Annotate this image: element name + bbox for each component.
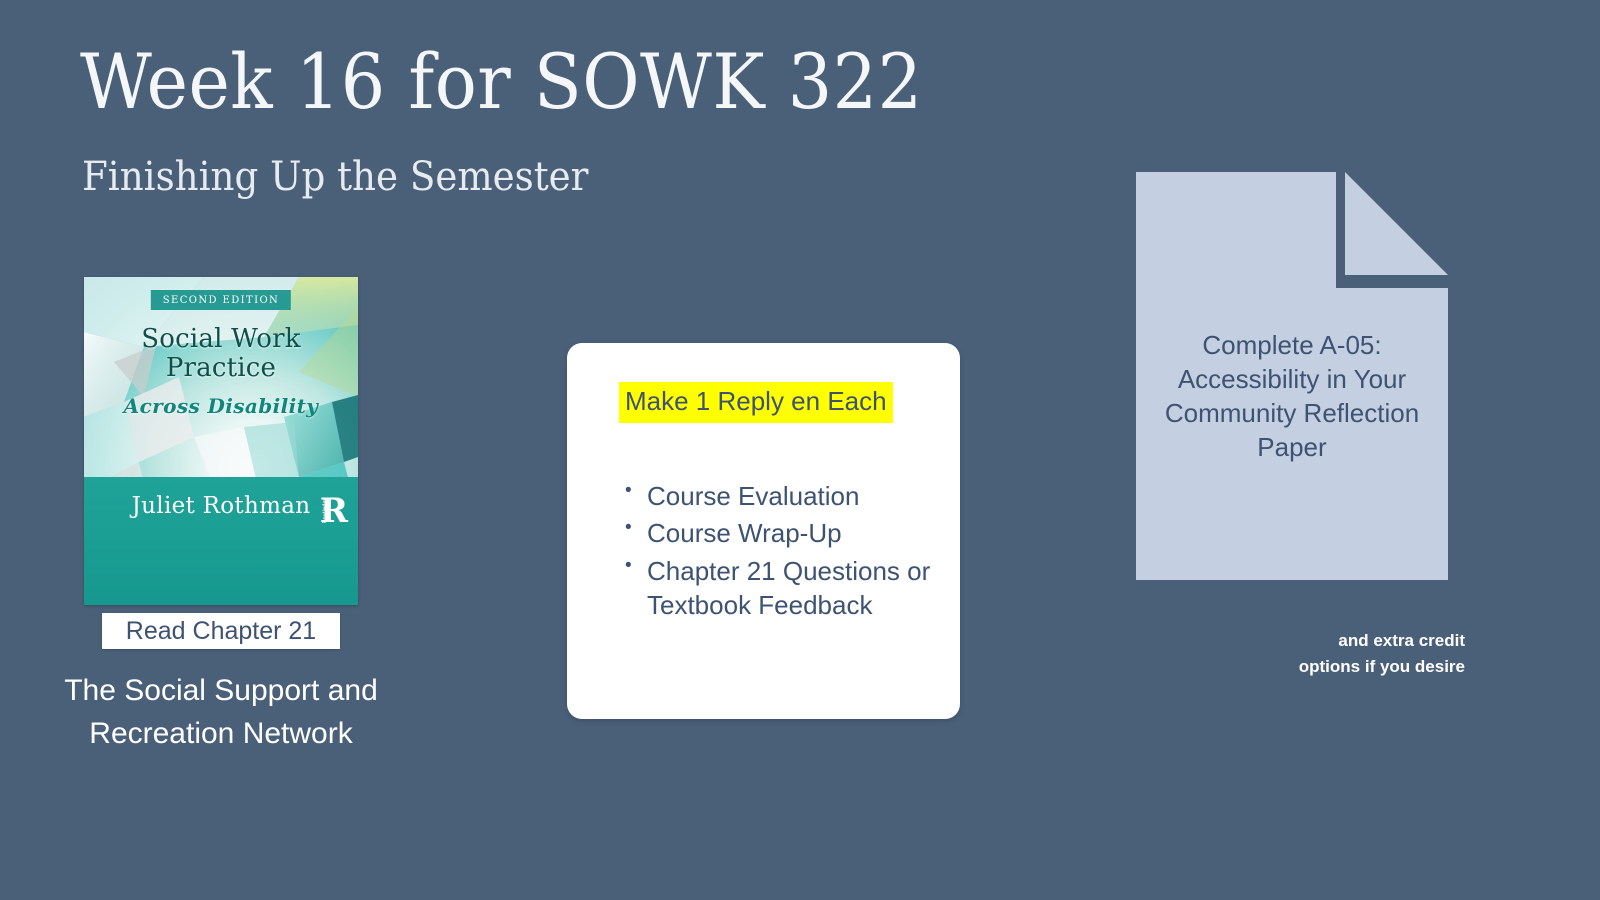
assignment-document-shape: Complete A-05: Accessibility in Your Com…: [1136, 172, 1448, 580]
page-subtitle: Finishing Up the Semester: [82, 155, 588, 199]
book-edition-badge: SECOND EDITION: [151, 290, 291, 310]
book-author-band: Juliet Rothman Routledge R: [84, 477, 358, 605]
list-item: Course Evaluation: [621, 479, 938, 513]
extra-credit-note: and extra credit options if you desire: [1275, 628, 1465, 680]
discussion-card: Make 1 Reply en Each Course Evaluation C…: [567, 343, 960, 719]
slide-canvas: Week 16 for SOWK 322 Finishing Up the Se…: [0, 0, 1600, 900]
page-title: Week 16 for SOWK 322: [80, 42, 923, 122]
card-bullet-list: Course Evaluation Course Wrap-Up Chapter…: [621, 479, 938, 625]
document-folded-corner-icon: [1345, 172, 1448, 275]
card-heading-wrapper: Make 1 Reply en Each: [619, 382, 893, 423]
bullet-list: Course Evaluation Course Wrap-Up Chapter…: [621, 479, 938, 622]
assignment-title: Complete A-05: Accessibility in Your Com…: [1148, 328, 1436, 464]
textbook-cover-image: SECOND EDITION Social Work Practice Acro…: [84, 277, 358, 605]
list-item: Course Wrap-Up: [621, 516, 938, 550]
book-title-line1: Social Work: [84, 325, 358, 354]
card-heading-highlighted: Make 1 Reply en Each: [619, 382, 893, 423]
book-subtitle: Across Disability: [84, 394, 358, 418]
book-title-line2: Practice: [84, 354, 358, 383]
routledge-logo-icon: Routledge R: [314, 487, 348, 525]
book-caption: The Social Support and Recreation Networ…: [60, 670, 382, 755]
book-title: Social Work Practice: [84, 325, 358, 383]
read-chapter-label: Read Chapter 21: [102, 613, 340, 649]
routledge-wordmark: Routledge: [322, 497, 328, 523]
list-item: Chapter 21 Questions or Textbook Feedbac…: [621, 554, 938, 623]
